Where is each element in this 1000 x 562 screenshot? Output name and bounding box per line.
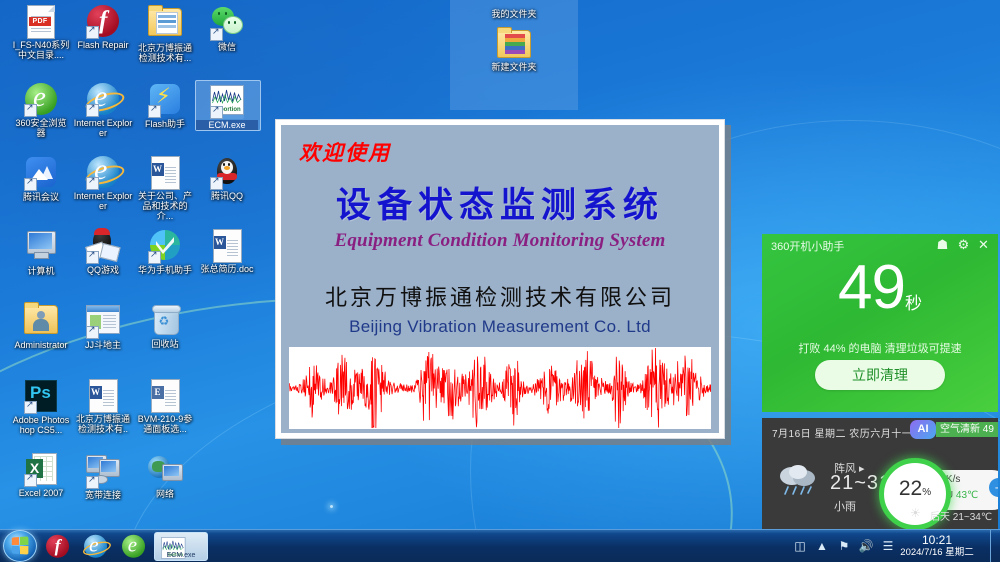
shortcut-overlay-icon bbox=[210, 28, 223, 41]
shortcut-overlay-icon bbox=[210, 177, 223, 190]
desktop[interactable]: PDFI_FS-N40系列中文目录....Flash Repair北京万博振通检… bbox=[0, 0, 1000, 530]
cpu-temp-value: 43℃ bbox=[956, 490, 978, 501]
taskbar-button-label: ECM.exe bbox=[159, 552, 203, 559]
shirt-icon[interactable]: ☗ bbox=[935, 237, 950, 252]
desktop-icon-tencent-qq[interactable]: 腾讯QQ bbox=[196, 155, 258, 201]
ie-icon bbox=[84, 534, 101, 550]
desktop-icon-label: 北京万博振通检测技术有.. bbox=[72, 414, 134, 434]
desktop-icon-label: 关于公司、产品和技术的介... bbox=[134, 191, 196, 221]
rain-cloud-icon bbox=[776, 462, 822, 496]
humidity-value: 22 bbox=[899, 477, 922, 500]
tray-action-center-icon[interactable]: ⚑ bbox=[836, 539, 852, 554]
splash-title-chinese: 设备状态监测系统 bbox=[281, 177, 719, 228]
bin-icon: ♻ bbox=[148, 304, 182, 338]
add-widget-button[interactable]: + bbox=[989, 478, 998, 497]
360-boot-assistant-widget[interactable]: 360开机小助手 ☗ ⚙ ✕ 49秒 打败 44% 的电脑 清理垃圾可提速 立即… bbox=[762, 234, 998, 412]
desktop-icon-network[interactable]: 网络 bbox=[134, 452, 196, 499]
desktop-icon-bvm-doc[interactable]: W北京万博振通检测技术有.. bbox=[72, 378, 134, 434]
gear-icon[interactable]: ⚙ bbox=[956, 237, 971, 252]
taskbar-internet-explorer[interactable] bbox=[78, 532, 114, 559]
shortcut-overlay-icon bbox=[24, 178, 37, 191]
qq-icon bbox=[210, 156, 244, 190]
desktop-icon-wechat[interactable]: 微信 bbox=[196, 4, 258, 52]
desktop-icon-label: BVM-210-9参通面板选... bbox=[134, 414, 196, 434]
computer-icon bbox=[24, 231, 58, 265]
splash-title-english: Equipment Condition Monitoring System bbox=[281, 230, 719, 252]
desktop-icon-label: 腾讯QQ bbox=[196, 191, 258, 201]
desktop-icon-360-browser[interactable]: 360安全浏览器 bbox=[10, 82, 72, 138]
weather-condition: 小雨 bbox=[834, 498, 856, 514]
sun-icon: ☀ bbox=[910, 506, 921, 520]
ps-icon bbox=[24, 380, 58, 414]
tray-device-icon[interactable]: ◫ bbox=[792, 539, 808, 554]
meeting-icon bbox=[24, 157, 58, 191]
shortcut-overlay-icon bbox=[86, 251, 99, 264]
taskbar-ecm[interactable]: bortionECM.exe bbox=[154, 532, 208, 561]
desktop-icon-label: Excel 2007 bbox=[10, 488, 72, 498]
desktop-icon-photoshop[interactable]: Adobe Photoshop CS5... bbox=[10, 378, 72, 435]
shortcut-overlay-icon bbox=[86, 104, 99, 117]
desktop-icon-label: 回收站 bbox=[134, 339, 196, 349]
show-desktop-button[interactable] bbox=[990, 530, 1000, 562]
clock-date: 2024/7/16 星期二 bbox=[900, 547, 974, 559]
shortcut-overlay-icon bbox=[24, 401, 37, 414]
ecm-icon: bortion bbox=[161, 535, 178, 551]
tray-show-hidden-icon[interactable]: ▲ bbox=[814, 539, 830, 554]
adminfolder-icon bbox=[24, 305, 58, 339]
ecm-splash-window[interactable]: 欢迎使用 设备状态监测系统 Equipment Condition Monito… bbox=[275, 119, 725, 439]
humidity-unit: % bbox=[922, 487, 931, 498]
desktop-icon-label: 北京万博振通检测技术有... bbox=[134, 43, 196, 63]
splash-company-english: Beijing Vibration Measurement Co. Ltd bbox=[281, 317, 719, 337]
splash-welcome-text: 欢迎使用 bbox=[299, 137, 391, 167]
shortcut-overlay-icon bbox=[86, 326, 99, 339]
new-folder-label: 新建文件夹 bbox=[483, 62, 545, 72]
ie-icon bbox=[86, 156, 120, 190]
360-widget-subtitle: 打败 44% 的电脑 清理垃圾可提速 bbox=[762, 340, 998, 356]
folder-region-header: 我的文件夹 bbox=[450, 7, 578, 20]
clean-now-button[interactable]: 立即清理 bbox=[815, 360, 945, 390]
desktop-icon-administrator[interactable]: Administrator bbox=[10, 302, 72, 350]
ie-icon bbox=[86, 83, 120, 117]
desktop-icon-recycle-bin[interactable]: ♻回收站 bbox=[134, 302, 196, 349]
desktop-icon-company-intro-doc[interactable]: W关于公司、产品和技术的介... bbox=[134, 155, 196, 221]
desktop-icon-label: 张总简历.doc bbox=[196, 264, 258, 274]
waveform-svg bbox=[289, 347, 711, 429]
broadband-icon bbox=[86, 455, 120, 489]
desktop-icon-label: 腾讯会议 bbox=[10, 192, 72, 202]
word-icon: W bbox=[86, 379, 120, 413]
shortcut-overlay-icon bbox=[148, 105, 161, 118]
desktop-icon-flash-helper[interactable]: Flash助手 bbox=[134, 82, 196, 129]
e360-icon bbox=[122, 534, 139, 550]
desktop-icon-label: Adobe Photoshop CS5... bbox=[10, 415, 72, 435]
desktop-icon-label: Internet Explorer bbox=[72, 118, 134, 138]
desktop-icon-label: Flash Repair bbox=[72, 40, 134, 50]
desktop-icon-label: 计算机 bbox=[10, 266, 72, 276]
desktop-icon-internet-explorer[interactable]: Internet Explorer bbox=[72, 82, 134, 138]
folder-icon bbox=[483, 30, 545, 58]
desktop-icon-label: 宽带连接 bbox=[72, 490, 134, 500]
e360-icon bbox=[24, 83, 58, 117]
plus-label: + bbox=[995, 480, 998, 495]
weather-tomorrow: 后天 21~34℃ bbox=[930, 508, 992, 523]
360-boot-seconds-unit: 秒 bbox=[905, 289, 922, 320]
ecm-icon: bortion bbox=[210, 85, 244, 119]
splash-waveform-plot bbox=[289, 347, 711, 429]
taskbar-clock[interactable]: 10:21 2024/7/16 星期二 bbox=[900, 533, 974, 559]
taskbar-360-browser[interactable] bbox=[116, 532, 152, 559]
360-boot-time: 49秒 bbox=[762, 256, 998, 320]
shortcut-overlay-icon bbox=[86, 26, 99, 39]
windows-logo-icon bbox=[12, 536, 29, 554]
desktop-icon-bvm-210-9-doc[interactable]: EBVM-210-9参通面板选... bbox=[134, 378, 196, 434]
flash-icon bbox=[86, 5, 120, 39]
word2-icon: E bbox=[148, 379, 182, 413]
folder-selection-region[interactable]: 我的文件夹 新建文件夹 bbox=[450, 0, 578, 110]
shortcut-overlay-icon bbox=[24, 104, 37, 117]
splash-company-chinese: 北京万博振通检测技术有限公司 bbox=[281, 280, 719, 312]
flash-icon bbox=[46, 534, 63, 550]
flashhelper-icon bbox=[148, 84, 182, 118]
taskbar[interactable]: bortionECM.exe ◫ ▲ ⚑ 🔊 ☰ 10:21 2024/7/16… bbox=[0, 529, 1000, 562]
desktop-icon-flash-repair[interactable]: Flash Repair bbox=[72, 4, 134, 50]
desktop-icon-ecm-exe[interactable]: bortionECM.exe bbox=[196, 82, 258, 130]
start-button[interactable] bbox=[3, 530, 37, 562]
desktop-icon-label: ECM.exe bbox=[196, 120, 258, 130]
network-icon bbox=[148, 454, 182, 488]
wallpaper-glow-dot bbox=[330, 505, 333, 508]
desktop-icon-label: Administrator bbox=[10, 340, 72, 350]
jjwin-icon bbox=[86, 305, 120, 339]
desktop-icon-tencent-meeting[interactable]: 腾讯会议 bbox=[10, 155, 72, 202]
desktop-icon-broadband-connection[interactable]: 宽带连接 bbox=[72, 452, 134, 500]
folder-icon bbox=[148, 8, 182, 42]
word-icon: W bbox=[210, 229, 244, 263]
360-widget-title: 360开机小助手 bbox=[771, 238, 844, 254]
desktop-icon-label: I_FS-N40系列中文目录.... bbox=[10, 40, 72, 60]
desktop-icon-internet-explorer-2[interactable]: Internet Explorer bbox=[72, 155, 134, 211]
shortcut-overlay-icon bbox=[24, 474, 37, 487]
taskbar-flash[interactable] bbox=[40, 532, 76, 559]
desktop-icon-jj-doudizhu[interactable]: JJ斗地主 bbox=[72, 302, 134, 350]
desktop-icon-label: Flash助手 bbox=[134, 119, 196, 129]
wechat-icon bbox=[210, 7, 244, 41]
desktop-icon-label: 华为手机助手 bbox=[134, 265, 196, 275]
shortcut-overlay-icon bbox=[86, 476, 99, 489]
360-boot-seconds-value: 49 bbox=[838, 256, 905, 320]
weather-system-widget[interactable]: 7月16日 星期二 农历六月十一 AI 空气清新 49 阵风 ▸ 21~31 小… bbox=[762, 418, 998, 530]
air-quality-badge: 空气清新 49 bbox=[936, 422, 998, 437]
desktop-icon-label: 网络 bbox=[134, 489, 196, 499]
desktop-icon-fs-n40-catalog[interactable]: PDFI_FS-N40系列中文目录.... bbox=[10, 4, 72, 60]
desktop-icon-excel-2007[interactable]: XExcel 2007 bbox=[10, 452, 72, 498]
excel-icon: X bbox=[24, 453, 58, 487]
desktop-icon-new-folder[interactable]: 新建文件夹 bbox=[483, 26, 545, 72]
shortcut-overlay-icon bbox=[210, 106, 223, 119]
word-icon: W bbox=[148, 156, 182, 190]
desktop-icon-resume-doc[interactable]: W张总简历.doc bbox=[196, 228, 258, 274]
splash-panel: 欢迎使用 设备状态监测系统 Equipment Condition Monito… bbox=[281, 125, 719, 433]
desktop-icon-label: Internet Explorer bbox=[72, 191, 134, 211]
desktop-icon-huawei-hisuite[interactable]: 华为手机助手 bbox=[134, 228, 196, 275]
desktop-icon-computer[interactable]: 计算机 bbox=[10, 228, 72, 276]
desktop-icon-label: QQ游戏 bbox=[72, 265, 134, 275]
weather-date-line: 7月16日 星期二 农历六月十一 bbox=[772, 425, 912, 440]
tray-network-icon[interactable]: ☰ bbox=[880, 539, 896, 554]
shortcut-overlay-icon bbox=[86, 177, 99, 190]
clock-time: 10:21 bbox=[900, 533, 974, 547]
desktop-icon-label: 360安全浏览器 bbox=[10, 118, 72, 138]
desktop-icon-label: 微信 bbox=[196, 42, 258, 52]
pdf-icon: PDF bbox=[24, 5, 58, 39]
desktop-icon-bvm-folder[interactable]: 北京万博振通检测技术有... bbox=[134, 4, 196, 63]
tray-volume-icon[interactable]: 🔊 bbox=[858, 539, 874, 554]
desktop-icon-label: JJ斗地主 bbox=[72, 340, 134, 350]
desktop-icon-qq-games[interactable]: QQ游戏 bbox=[72, 228, 134, 275]
close-icon[interactable]: ✕ bbox=[976, 237, 991, 252]
huawei-icon bbox=[148, 230, 182, 264]
ai-badge[interactable]: AI bbox=[910, 420, 936, 439]
shortcut-overlay-icon bbox=[148, 251, 161, 264]
qqgame-icon bbox=[86, 230, 120, 264]
